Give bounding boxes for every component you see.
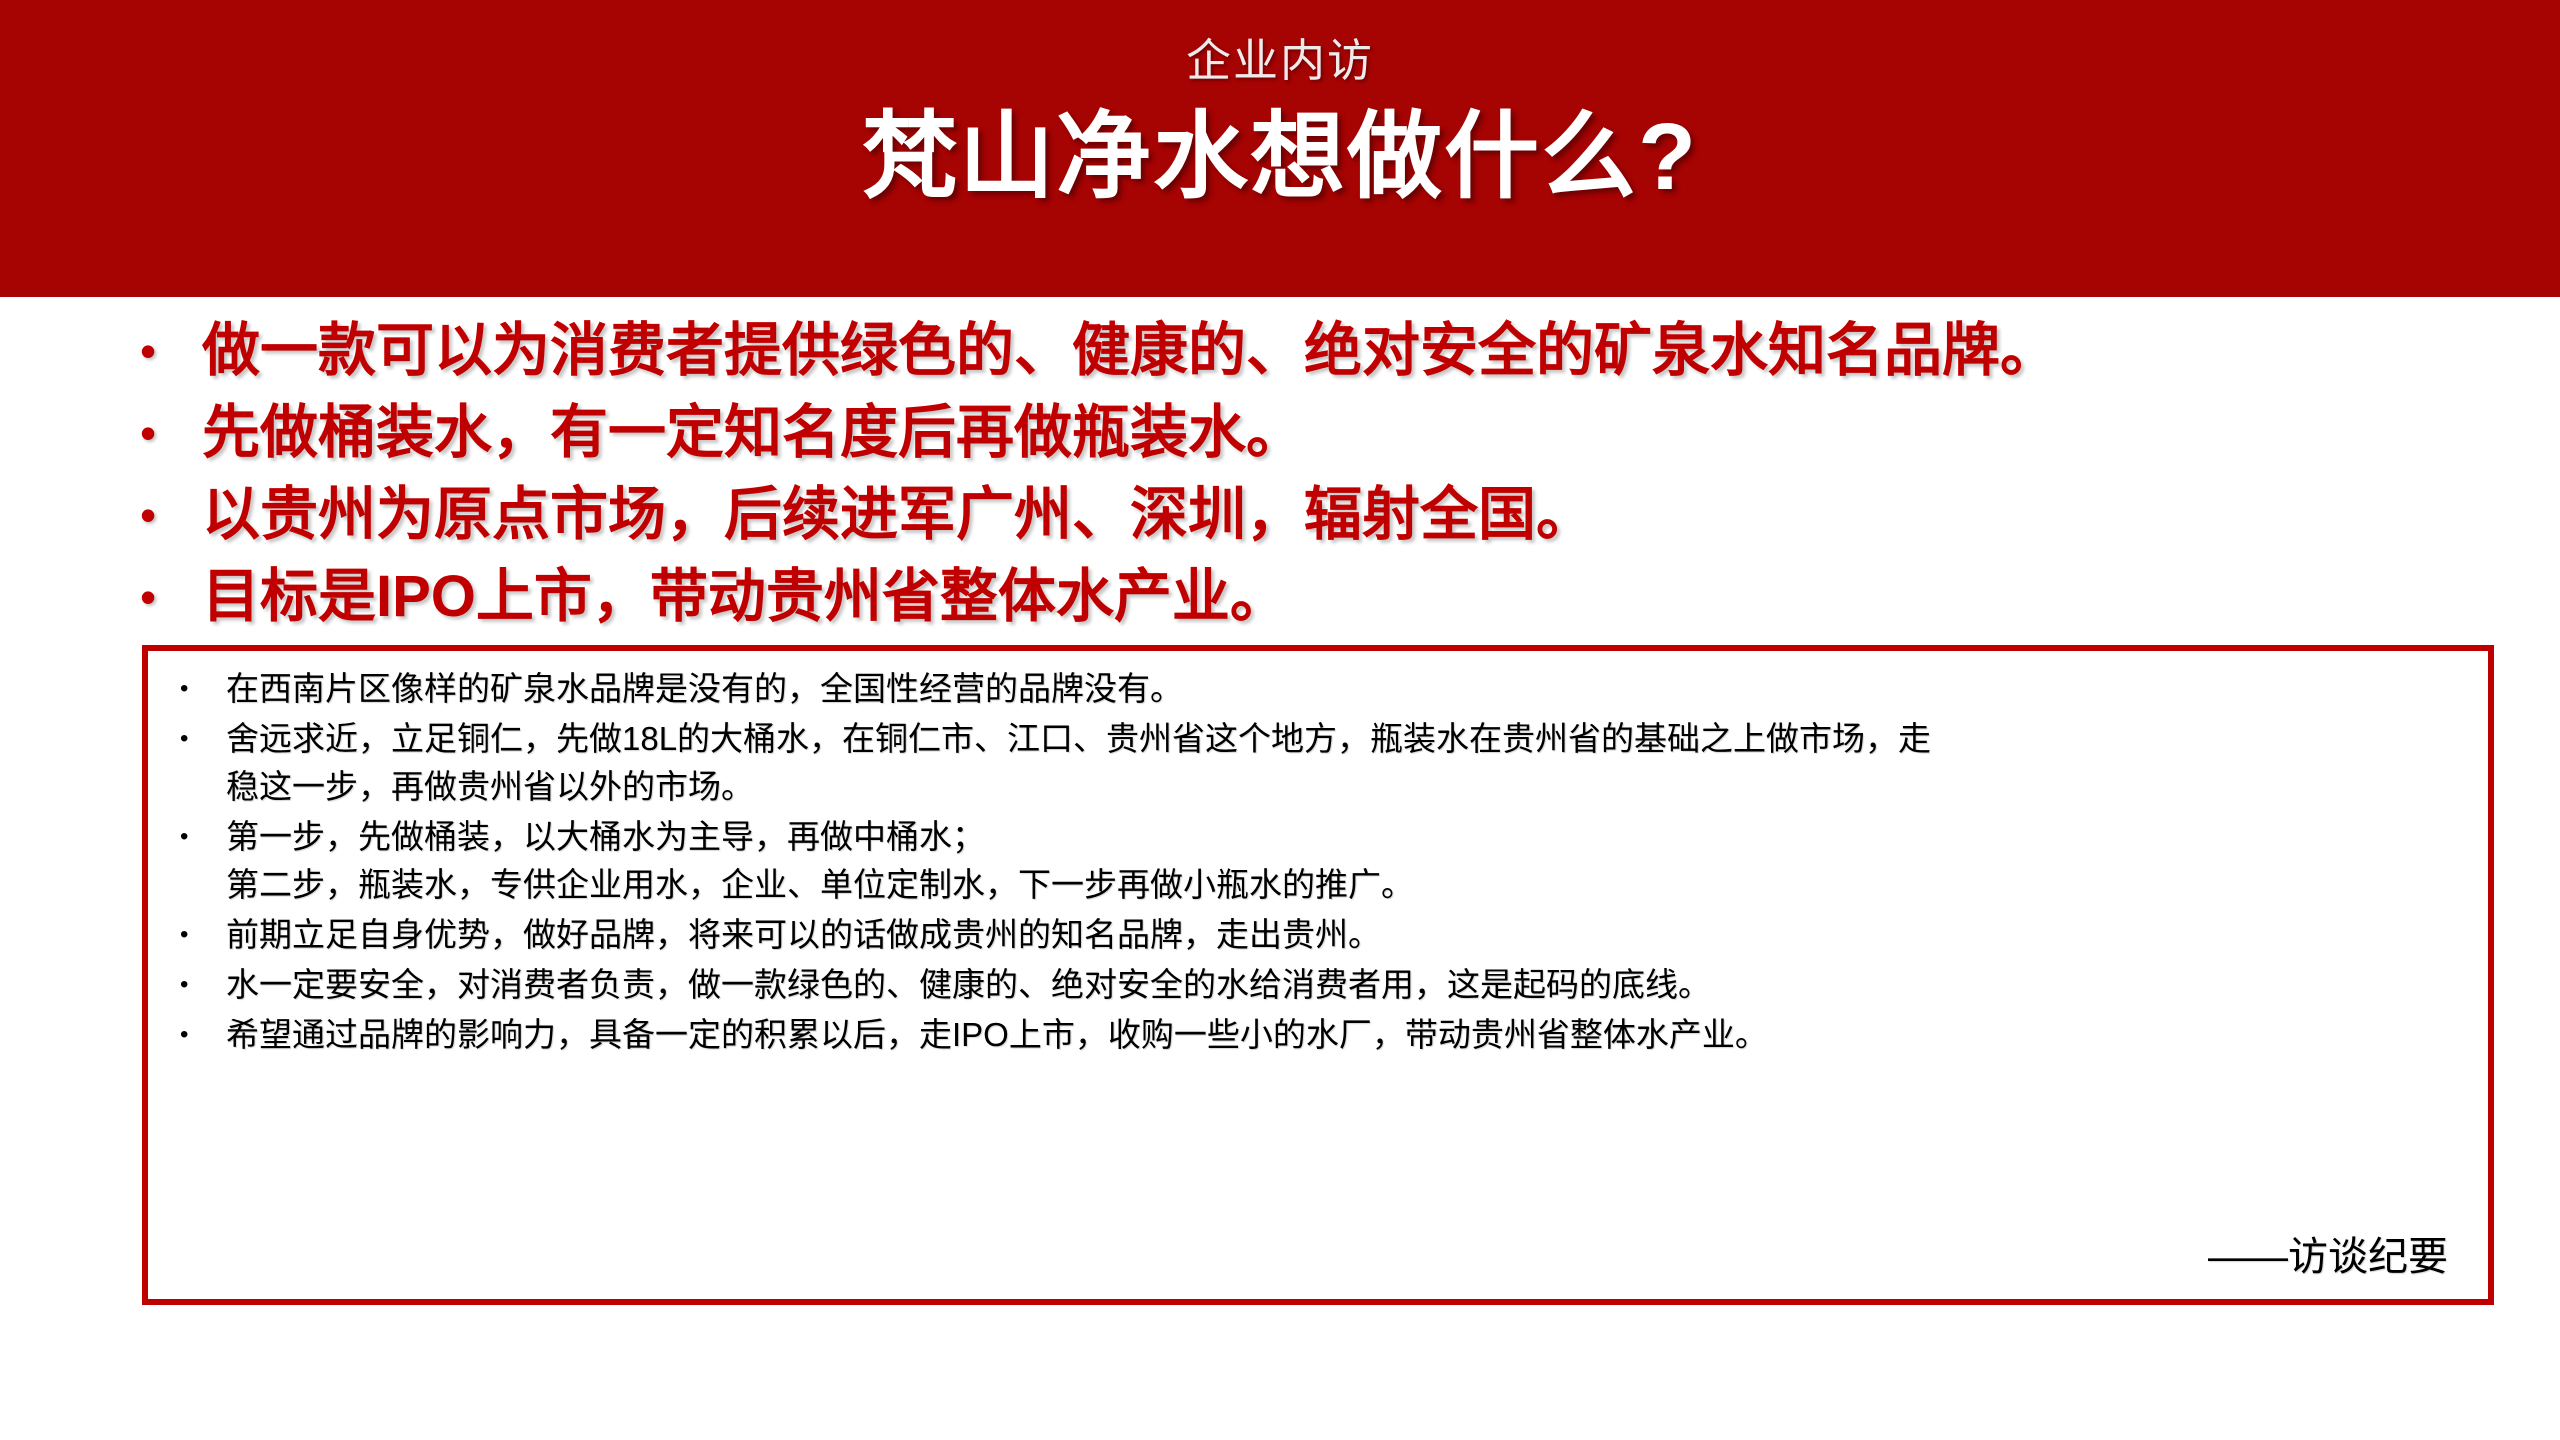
key-point-text: 做一款可以为消费者提供绿色的、健康的、绝对安全的矿泉水知名品牌。 bbox=[202, 312, 2470, 390]
list-item: • 水一定要安全，对消费者负责，做一款绿色的、健康的、绝对安全的水给消费者用，这… bbox=[180, 961, 2464, 1009]
list-item: • 希望通过品牌的影响力，具备一定的积累以后，走IPO上市，收购一些小的水厂，带… bbox=[180, 1011, 2464, 1059]
list-item: • 目标是IPO上市，带动贵州省整体水产业。 bbox=[140, 558, 2470, 636]
list-item: • 在西南片区像样的矿泉水品牌是没有的，全国性经营的品牌没有。 bbox=[180, 665, 2464, 713]
note-body: 第一步，先做桶装，以大桶水为主导，再做中桶水； 第二步，瓶装水，专供企业用水，企… bbox=[226, 813, 2464, 909]
bullet-icon: • bbox=[180, 715, 226, 763]
bullet-icon: • bbox=[140, 476, 202, 554]
slide-header-band: 企业内访 梵山净水想做什么? bbox=[0, 0, 2560, 297]
key-point-text: 目标是IPO上市，带动贵州省整体水产业。 bbox=[202, 558, 2470, 636]
note-line: 第一步，先做桶装，以大桶水为主导，再做中桶水； bbox=[226, 813, 2464, 861]
bullet-icon: • bbox=[140, 394, 202, 472]
note-line: 第二步，瓶装水，专供企业用水，企业、单位定制水，下一步再做小瓶水的推广。 bbox=[226, 861, 2464, 909]
list-item: • 做一款可以为消费者提供绿色的、健康的、绝对安全的矿泉水知名品牌。 bbox=[140, 312, 2470, 390]
list-item: • 先做桶装水，有一定知名度后再做瓶装水。 bbox=[140, 394, 2470, 472]
header-subtitle: 企业内访 bbox=[0, 38, 2560, 83]
list-item: • 第一步，先做桶装，以大桶水为主导，再做中桶水； 第二步，瓶装水，专供企业用水… bbox=[180, 813, 2464, 909]
bullet-icon: • bbox=[180, 665, 226, 713]
note-body: 水一定要安全，对消费者负责，做一款绿色的、健康的、绝对安全的水给消费者用，这是起… bbox=[226, 961, 2464, 1009]
list-item: • 以贵州为原点市场，后续进军广州、深圳，辐射全国。 bbox=[140, 476, 2470, 554]
list-item: • 前期立足自身优势，做好品牌，将来可以的话做成贵州的知名品牌，走出贵州。 bbox=[180, 911, 2464, 959]
note-body: 在西南片区像样的矿泉水品牌是没有的，全国性经营的品牌没有。 bbox=[226, 665, 2464, 713]
note-body: 舍远求近，立足铜仁，先做18L的大桶水，在铜仁市、江口、贵州省这个地方，瓶装水在… bbox=[226, 715, 2464, 811]
bullet-icon: • bbox=[140, 558, 202, 636]
key-point-text: 以贵州为原点市场，后续进军广州、深圳，辐射全国。 bbox=[202, 476, 2470, 554]
bullet-icon: • bbox=[180, 961, 226, 1009]
note-body: 前期立足自身优势，做好品牌，将来可以的话做成贵州的知名品牌，走出贵州。 bbox=[226, 911, 2464, 959]
note-line: 稳这一步，再做贵州省以外的市场。 bbox=[226, 763, 2464, 811]
note-line: 舍远求近，立足铜仁，先做18L的大桶水，在铜仁市、江口、贵州省这个地方，瓶装水在… bbox=[226, 715, 2464, 763]
key-points-list: • 做一款可以为消费者提供绿色的、健康的、绝对安全的矿泉水知名品牌。 • 先做桶… bbox=[140, 312, 2470, 640]
attribution-text: ——访谈纪要 bbox=[2208, 1235, 2448, 1279]
list-item: • 舍远求近，立足铜仁，先做18L的大桶水，在铜仁市、江口、贵州省这个地方，瓶装… bbox=[180, 715, 2464, 811]
note-line: 在西南片区像样的矿泉水品牌是没有的，全国性经营的品牌没有。 bbox=[226, 665, 2464, 713]
interview-notes-box: • 在西南片区像样的矿泉水品牌是没有的，全国性经营的品牌没有。 • 舍远求近，立… bbox=[142, 645, 2494, 1305]
note-line: 前期立足自身优势，做好品牌，将来可以的话做成贵州的知名品牌，走出贵州。 bbox=[226, 911, 2464, 959]
interview-notes-list: • 在西南片区像样的矿泉水品牌是没有的，全国性经营的品牌没有。 • 舍远求近，立… bbox=[180, 665, 2464, 1061]
bullet-icon: • bbox=[180, 911, 226, 959]
bullet-icon: • bbox=[180, 813, 226, 861]
bullet-icon: • bbox=[140, 312, 202, 390]
page-title: 梵山净水想做什么? bbox=[0, 110, 2560, 205]
note-line: 希望通过品牌的影响力，具备一定的积累以后，走IPO上市，收购一些小的水厂，带动贵… bbox=[226, 1011, 2464, 1059]
key-point-text: 先做桶装水，有一定知名度后再做瓶装水。 bbox=[202, 394, 2470, 472]
note-body: 希望通过品牌的影响力，具备一定的积累以后，走IPO上市，收购一些小的水厂，带动贵… bbox=[226, 1011, 2464, 1059]
bullet-icon: • bbox=[180, 1011, 226, 1059]
note-line: 水一定要安全，对消费者负责，做一款绿色的、健康的、绝对安全的水给消费者用，这是起… bbox=[226, 961, 2464, 1009]
